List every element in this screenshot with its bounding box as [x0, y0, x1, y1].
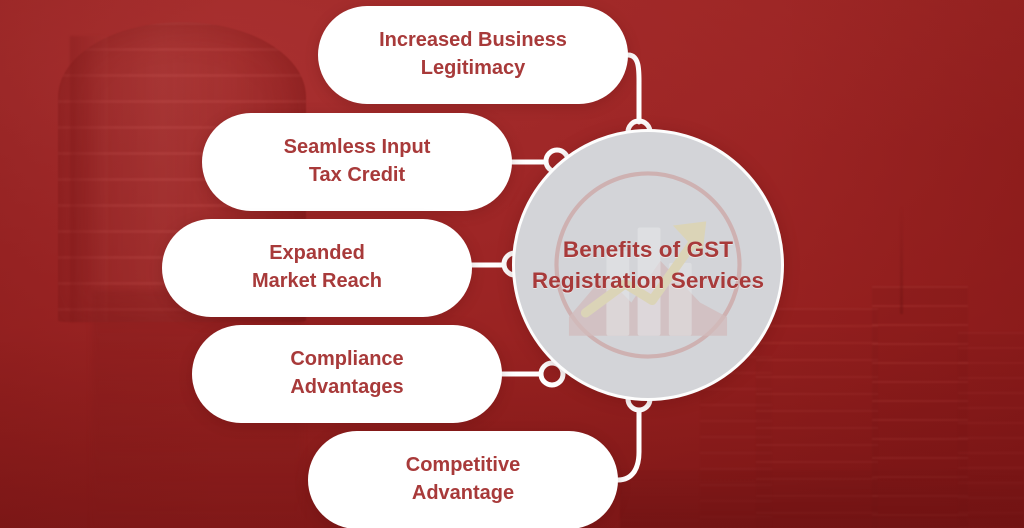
connector-line-1	[628, 55, 639, 122]
benefit-pill-4-line1: Compliance	[290, 348, 403, 370]
benefit-pill-2-line2: Tax Credit	[309, 164, 405, 186]
background-building-c	[958, 332, 1024, 528]
benefit-pill-3-label: Expanded Market Reach	[226, 240, 408, 295]
benefit-pill-5-line1: Competitive	[406, 454, 520, 476]
benefit-pill-1-line2: Legitimacy	[421, 57, 525, 79]
benefit-pill-1-label: Increased Business Legitimacy	[353, 27, 593, 82]
benefit-pill-5[interactable]: Competitive Advantage	[308, 431, 618, 528]
benefit-pill-4[interactable]: Compliance Advantages	[192, 325, 502, 423]
background-building-antenna-mast	[900, 206, 903, 314]
infographic-canvas: Benefits of GST Registration Services In…	[0, 0, 1024, 528]
hub-title-line2: Registration Services	[532, 268, 764, 293]
background-ground-haze	[620, 470, 1024, 528]
background-building-a	[756, 308, 878, 528]
benefit-pill-5-label: Competitive Advantage	[380, 452, 546, 507]
background-building-tower-core	[70, 36, 108, 322]
connector-line-5	[618, 410, 639, 480]
benefit-pill-2-line1: Seamless Input	[284, 136, 431, 158]
central-hub: Benefits of GST Registration Services	[512, 129, 784, 401]
background-building-b	[872, 286, 968, 528]
benefit-pill-1-line1: Increased Business	[379, 29, 567, 51]
benefit-pill-5-line2: Advantage	[412, 482, 514, 504]
hub-title: Benefits of GST Registration Services	[525, 234, 771, 297]
benefit-pill-3[interactable]: Expanded Market Reach	[162, 219, 472, 317]
benefit-pill-3-line1: Expanded	[269, 242, 365, 264]
benefit-pill-2-label: Seamless Input Tax Credit	[258, 134, 457, 189]
benefit-pill-1[interactable]: Increased Business Legitimacy	[318, 6, 628, 104]
benefit-pill-4-line2: Advantages	[290, 376, 403, 398]
benefit-pill-4-label: Compliance Advantages	[264, 346, 429, 401]
benefit-pill-2[interactable]: Seamless Input Tax Credit	[202, 113, 512, 211]
hub-title-line1: Benefits of GST	[563, 237, 733, 262]
benefit-pill-3-line2: Market Reach	[252, 270, 382, 292]
